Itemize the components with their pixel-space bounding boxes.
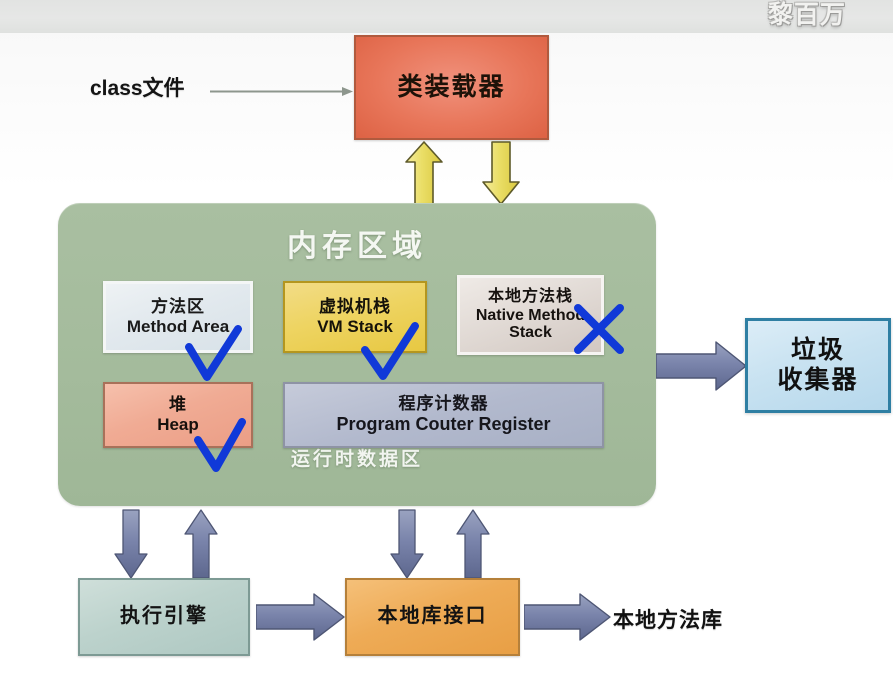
class-file-arrow-icon — [210, 86, 354, 97]
native-method-library-label: 本地方法库 — [613, 604, 723, 634]
garbage-collector-box[interactable]: 垃圾 收集器 — [745, 318, 891, 413]
engine-up-arrow-icon — [183, 508, 219, 580]
watermark-text: 黎百万 — [742, 0, 872, 32]
runtime-data-area-caption: 运行时数据区 — [58, 444, 656, 471]
execution-engine-box[interactable]: 执行引擎 — [78, 578, 250, 656]
native-method-stack-label-cn: 本地方法栈 — [488, 288, 573, 307]
class-file-label: class文件 — [90, 72, 185, 102]
interface-to-library-arrow-icon — [524, 592, 612, 642]
class-loader-box[interactable]: 类装载器 — [354, 35, 549, 140]
method-area-label-cn: 方法区 — [151, 297, 205, 317]
gc-right-arrow-icon — [656, 340, 748, 392]
yellow-down-arrow-icon — [480, 140, 522, 206]
method-area-box[interactable]: 方法区 Method Area — [103, 281, 253, 353]
pc-register-label-en: Program Couter Register — [336, 414, 550, 435]
native-method-stack-label-en: Native Method Stack — [460, 307, 601, 342]
program-counter-register-box[interactable]: 程序计数器 Program Couter Register — [283, 382, 604, 448]
native-interface-down-arrow-icon — [389, 508, 425, 580]
class-loader-label: 类装载器 — [397, 73, 505, 103]
native-library-interface-box[interactable]: 本地库接口 — [345, 578, 520, 656]
execution-engine-label: 执行引擎 — [120, 605, 208, 629]
engine-down-arrow-icon — [113, 508, 149, 580]
heap-label-en: Heap — [157, 415, 199, 435]
native-library-interface-label: 本地库接口 — [378, 605, 488, 629]
pc-register-label-cn: 程序计数器 — [399, 394, 489, 414]
native-method-stack-box[interactable]: 本地方法栈 Native Method Stack — [457, 275, 604, 355]
method-area-label-en: Method Area — [127, 317, 229, 337]
garbage-collector-label-line2: 收集器 — [777, 366, 858, 396]
native-interface-up-arrow-icon — [455, 508, 491, 580]
vm-stack-label-cn: 虚拟机栈 — [319, 297, 391, 317]
garbage-collector-label-line1: 垃圾 — [791, 336, 845, 366]
vm-stack-label-en: VM Stack — [317, 317, 393, 337]
yellow-up-arrow-icon — [404, 140, 444, 206]
engine-to-interface-arrow-icon — [256, 592, 346, 642]
memory-area-title: 内存区域 — [58, 221, 656, 265]
diagram-canvas: 黎百万 class文件 类装载器 内存区域 运行时数据区 方法区 Method … — [0, 0, 893, 673]
heap-label-cn: 堆 — [169, 395, 187, 415]
heap-box[interactable]: 堆 Heap — [103, 382, 253, 448]
vm-stack-box[interactable]: 虚拟机栈 VM Stack — [283, 281, 427, 353]
